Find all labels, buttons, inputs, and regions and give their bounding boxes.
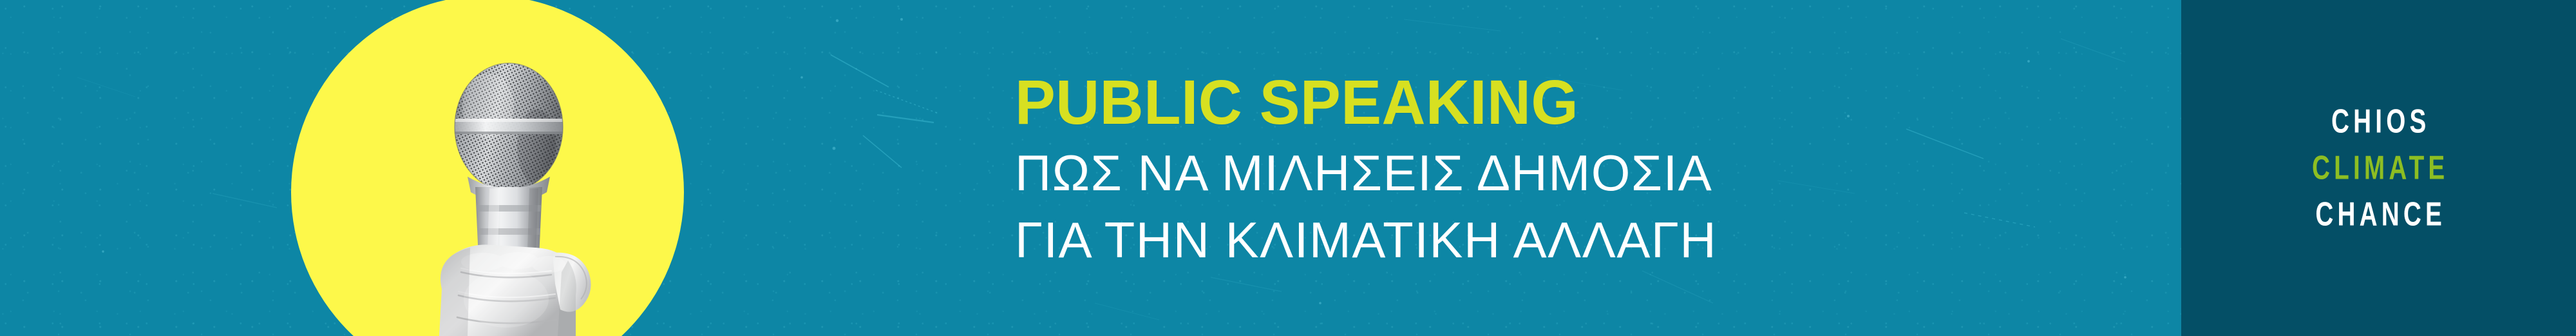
- logo-panel[interactable]: CHIOS CLIMATE CHANCE: [2181, 0, 2576, 336]
- logo-line-climate: CLIMATE: [2308, 152, 2448, 185]
- subtitle-line-2: ΓΙΑ ΤΗΝ ΚΛΙΜΑΤΙΚΗ ΑΛΛΑΓΗ: [1015, 215, 1717, 265]
- hand-holding-microphone: [380, 59, 638, 336]
- page-title: PUBLIC SPEAKING: [1015, 71, 1696, 133]
- subtitle-line-1: ΠΩΣ ΝΑ ΜΙΛΗΣΕΙΣ ΔΗΜΟΣΙΑ: [1015, 148, 1717, 198]
- banner-copy: PUBLIC SPEAKING ΠΩΣ ΝΑ ΜΙΛΗΣΕΙΣ ΔΗΜΟΣΙΑ …: [1015, 0, 1717, 336]
- logo-line-chios: CHIOS: [2327, 105, 2430, 139]
- promo-banner: PUBLIC SPEAKING ΠΩΣ ΝΑ ΜΙΛΗΣΕΙΣ ΔΗΜΟΣΙΑ …: [0, 0, 2576, 336]
- logo-line-chance: CHANCE: [2311, 198, 2446, 232]
